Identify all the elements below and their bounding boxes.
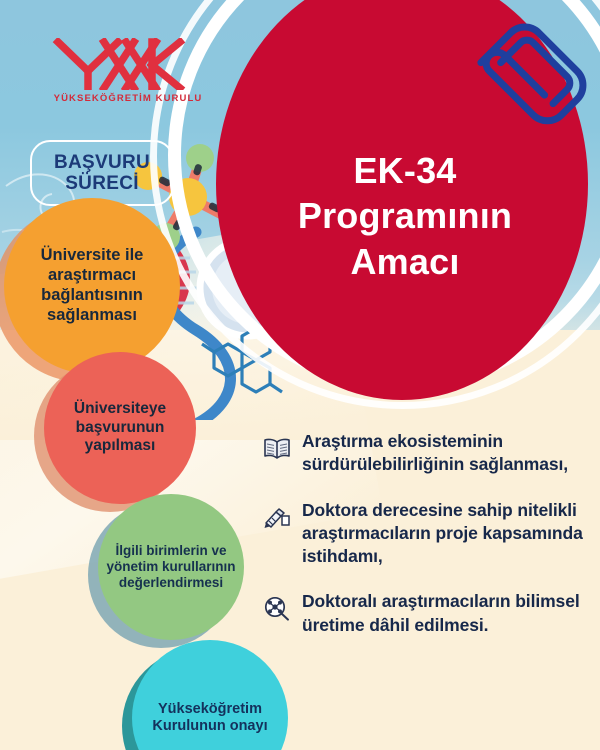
process-step-2[interactable]: Üniversiteye başvurunun yapılması [34, 352, 196, 514]
title-line-2: Programının [250, 193, 560, 238]
process-heading-line-1: BAŞVURU [54, 152, 150, 173]
objectives-list: Araştırma ekosisteminin sürdürülebilirli… [262, 430, 592, 659]
process-heading: BAŞVURU SÜRECİ [54, 152, 150, 195]
organization-name: YÜKSEKÖĞRETİM KURULU [48, 93, 208, 104]
open-book-icon [262, 434, 292, 464]
step-circle: Üniversiteye başvurunun yapılması [44, 352, 196, 504]
objective-item-1: Araştırma ekosisteminin sürdürülebilirli… [262, 430, 592, 477]
step-label: İlgili birimlerin ve yönetim kurullarını… [98, 543, 244, 592]
research-magnifier-icon [262, 594, 292, 624]
yok-logo: YÜKSEKÖĞRETİM KURULU [48, 38, 208, 104]
objective-text: Doktoralı araştırmacıların bilimsel üret… [302, 590, 592, 637]
process-heading-box: BAŞVURU SÜRECİ [30, 140, 174, 206]
step-circle: Üniversite ile araştırmacı bağlantısının… [4, 198, 180, 374]
yok-logo-icon [48, 38, 208, 90]
objective-item-3: Doktoralı araştırmacıların bilimsel üret… [262, 590, 592, 637]
objective-item-2: Doktora derecesine sahip nitelikli araşt… [262, 499, 592, 569]
infographic-poster: EK-34 Programının Amacı [0, 0, 600, 750]
step-label: Üniversiteye başvurunun yapılması [44, 400, 196, 456]
objective-text: Doktora derecesine sahip nitelikli araşt… [302, 499, 592, 569]
step-label: Üniversite ile araştırmacı bağlantısının… [4, 246, 180, 325]
writing-hand-icon [262, 503, 292, 533]
page-title: EK-34 Programının Amacı [250, 148, 560, 284]
title-line-3: Amacı [250, 239, 560, 284]
process-heading-line-2: SÜRECİ [54, 173, 150, 194]
step-circle: İlgili birimlerin ve yönetim kurullarını… [98, 494, 244, 640]
paperclip-icon [470, 22, 588, 140]
step-label: Yükseköğretim Kurulunun onayı [132, 701, 288, 736]
objective-text: Araştırma ekosisteminin sürdürülebilirli… [302, 430, 592, 477]
title-line-1: EK-34 [250, 148, 560, 193]
process-step-3[interactable]: İlgili birimlerin ve yönetim kurullarını… [88, 494, 244, 650]
